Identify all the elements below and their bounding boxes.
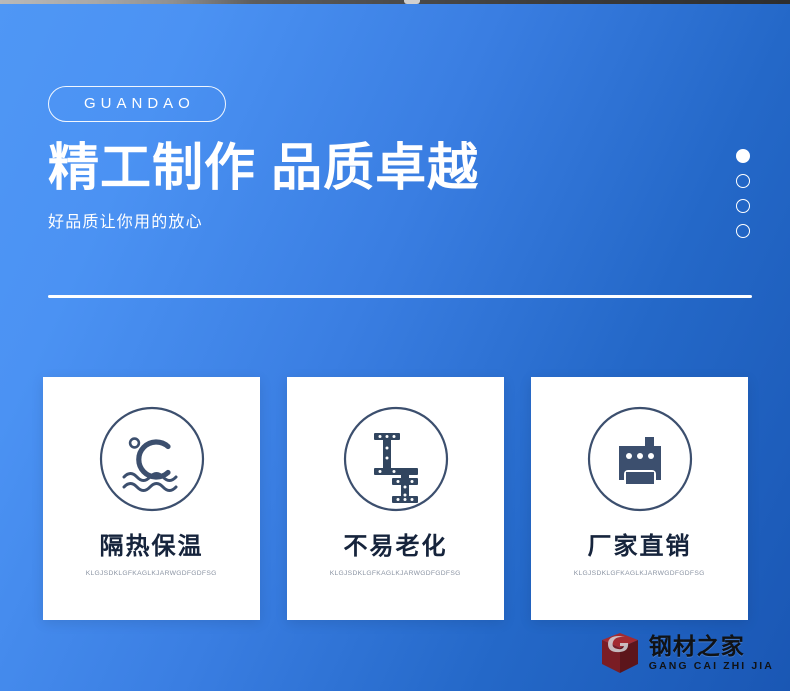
feature-card-subtext: KLGJSDKLGFKAGLKJARWGDFGDFSG xyxy=(330,570,461,577)
logo-chinese-name: 钢材之家 xyxy=(649,635,774,658)
divider-line xyxy=(48,295,752,298)
pager-dot-4[interactable] xyxy=(736,224,750,238)
factory-icon xyxy=(586,405,694,513)
red-cube-logo-icon xyxy=(599,631,641,675)
pager-dot-3[interactable] xyxy=(736,199,750,213)
promo-banner: GUANDAO 精工制作 品质卓越 好品质让你用的放心 隔热保温 KLGJSDK… xyxy=(0,0,790,691)
pager-dot-2[interactable] xyxy=(736,174,750,188)
feature-card-insulation[interactable]: 隔热保温 KLGJSDKLGFKAGLKJARWGDFGDFSG xyxy=(43,377,260,620)
feature-card-list: 隔热保温 KLGJSDKLGFKAGLKJARWGDFGDFSG xyxy=(43,377,748,620)
steel-ibeam-icon xyxy=(342,405,450,513)
feature-card-title: 厂家直销 xyxy=(588,535,692,559)
feature-card-subtext: KLGJSDKLGFKAGLKJARWGDFGDFSG xyxy=(86,570,217,577)
site-watermark-logo: 钢材之家 GANG CAI ZHI JIA xyxy=(599,631,774,675)
logo-pinyin-name: GANG CAI ZHI JIA xyxy=(649,661,774,672)
carousel-pager[interactable] xyxy=(736,149,750,238)
browser-chrome-strip xyxy=(0,0,790,4)
pager-dot-1[interactable] xyxy=(736,149,750,163)
temperature-waves-icon xyxy=(98,405,206,513)
page-title: 精工制作 品质卓越 xyxy=(48,139,748,196)
feature-card-title: 隔热保温 xyxy=(100,535,204,559)
chrome-notch xyxy=(404,0,420,4)
logo-text-block: 钢材之家 GANG CAI ZHI JIA xyxy=(649,635,774,672)
page-subtitle: 好品质让你用的放心 xyxy=(48,215,748,231)
feature-card-title: 不易老化 xyxy=(344,535,448,559)
hero-block: GUANDAO 精工制作 品质卓越 好品质让你用的放心 xyxy=(48,86,748,231)
feature-card-subtext: KLGJSDKLGFKAGLKJARWGDFGDFSG xyxy=(574,570,705,577)
guandao-badge: GUANDAO xyxy=(48,86,226,122)
feature-card-factory-direct[interactable]: 厂家直销 KLGJSDKLGFKAGLKJARWGDFGDFSG xyxy=(531,377,748,620)
feature-card-durability[interactable]: 不易老化 KLGJSDKLGFKAGLKJARWGDFGDFSG xyxy=(287,377,504,620)
